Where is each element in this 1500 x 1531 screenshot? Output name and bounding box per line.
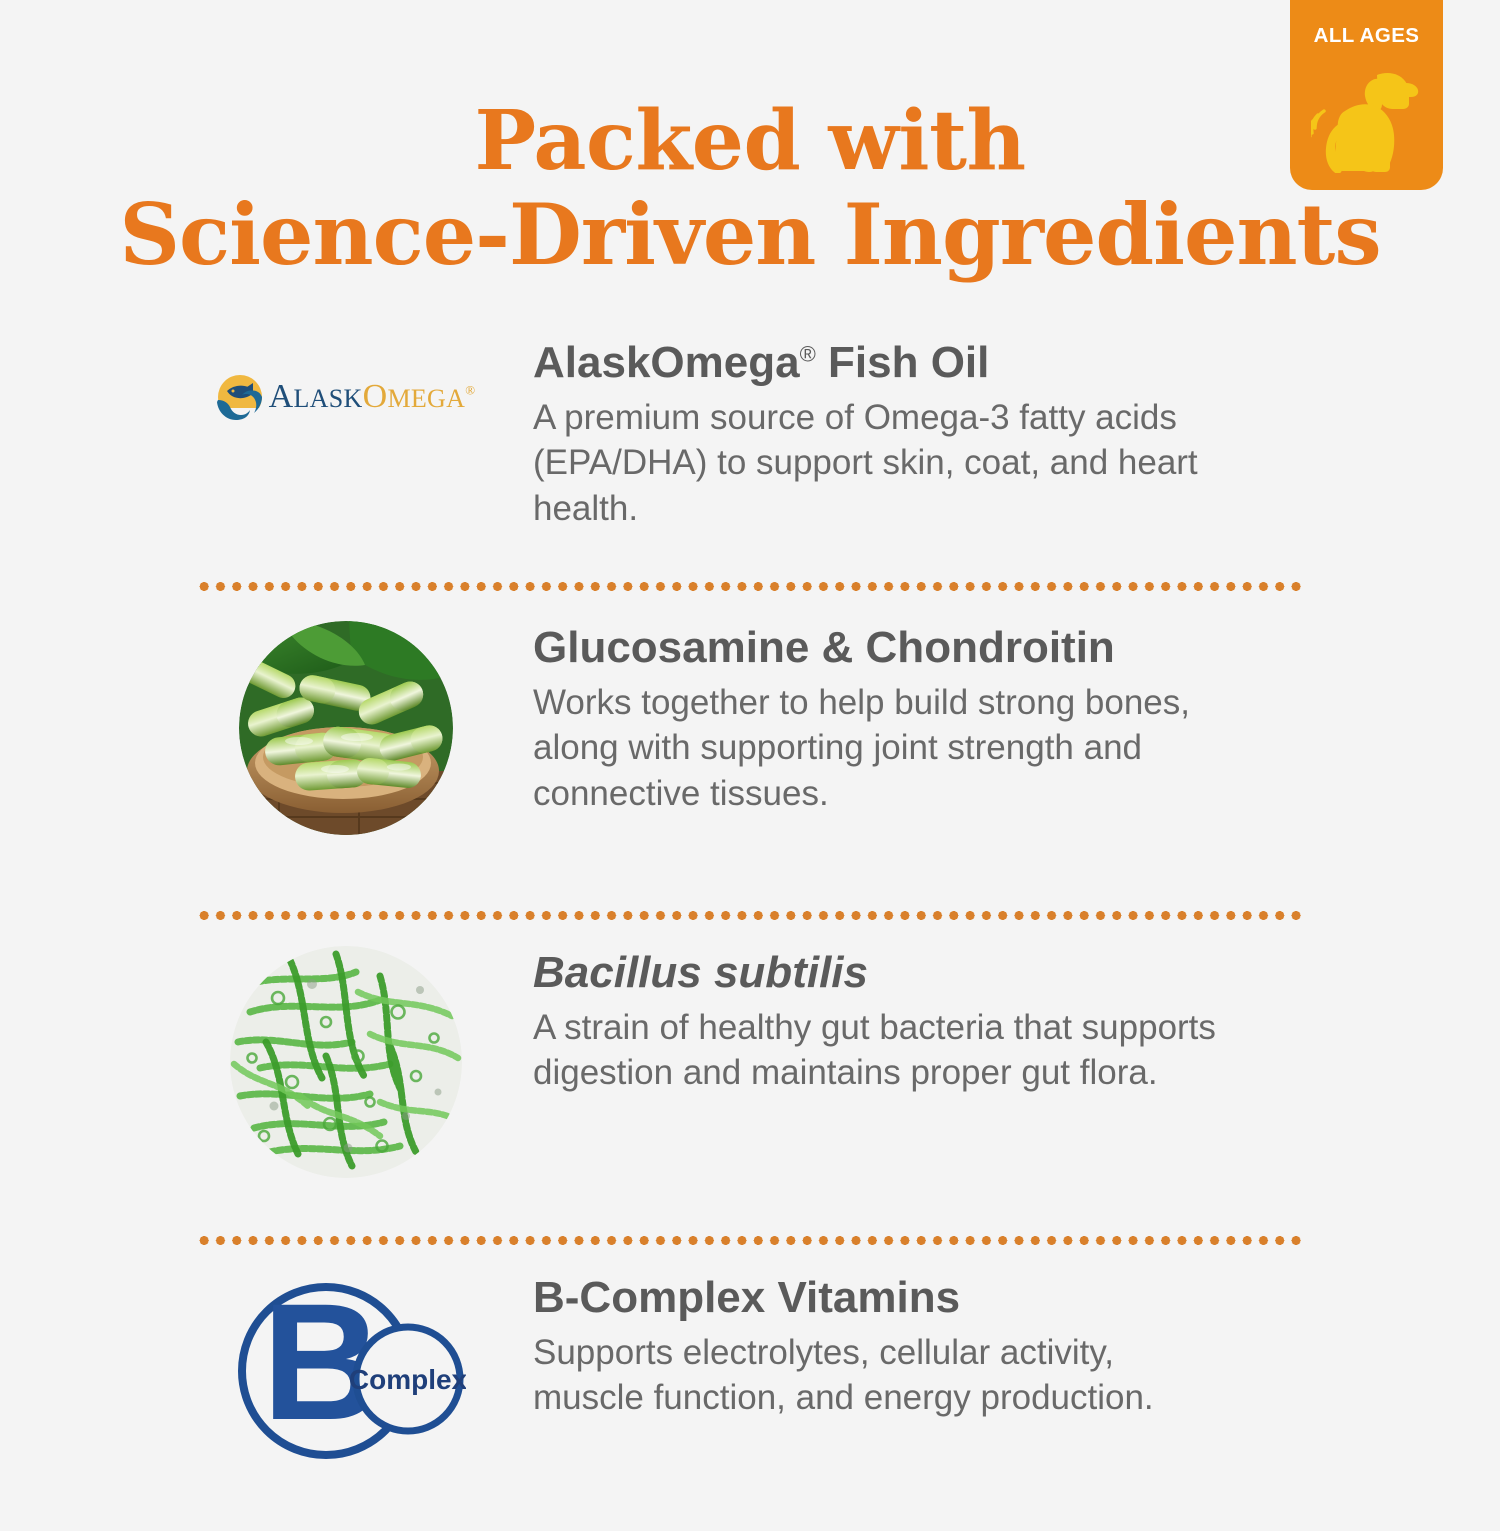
ingredient-title: AlaskOmega® Fish Oil (533, 340, 1500, 387)
ingredient-text: B-Complex Vitamins Supports electrolytes… (496, 1271, 1500, 1421)
ingredient-title: Glucosamine & Chondroitin (533, 625, 1500, 672)
ingredient-row-bacillus: Bacillus subtilis A strain of healthy gu… (0, 946, 1500, 1234)
ingredient-icon: B Complex (196, 1271, 496, 1476)
green-capsules-photo (239, 621, 453, 835)
ingredient-description: A premium source of Omega-3 fatty acids … (533, 395, 1233, 533)
b-complex-badge-text: Complex (349, 1364, 466, 1395)
divider (196, 1236, 1306, 1245)
ingredient-icon: ALASKOMEGA® (196, 336, 496, 420)
ingredient-description: A strain of healthy gut bacteria that su… (533, 1005, 1233, 1097)
registered-mark-icon: ® (800, 341, 816, 366)
alaskomega-wordmark-part1: ALASK (269, 378, 363, 415)
registered-mark-icon: ® (465, 383, 475, 398)
alaskomega-logo: ALASKOMEGA® (217, 374, 476, 420)
ingredient-title-suffix: Fish Oil (816, 338, 990, 387)
ingredient-text: Bacillus subtilis A strain of healthy gu… (496, 946, 1500, 1096)
alaskomega-wordmark-part2: OMEGA (363, 378, 466, 415)
ingredient-row-b-complex: B Complex B-Complex Vitamins Supports el… (0, 1271, 1500, 1531)
ingredient-description: Supports electrolytes, cellular activity… (533, 1330, 1233, 1422)
ingredient-icon (196, 946, 496, 1178)
bacteria-microscopy-photo (230, 946, 462, 1178)
alaskomega-wordmark: ALASKOMEGA® (269, 380, 476, 414)
ingredient-icon (196, 621, 496, 835)
ingredient-row-glucosamine: Glucosamine & Chondroitin Works together… (0, 621, 1500, 909)
ingredient-title: B-Complex Vitamins (533, 1275, 1500, 1322)
divider (196, 911, 1306, 920)
ingredient-description: Works together to help build strong bone… (533, 680, 1233, 818)
ingredient-row-alaskomega: ALASKOMEGA® AlaskOmega® Fish Oil A premi… (0, 336, 1500, 578)
title-line-1: Packed with (0, 96, 1500, 188)
ingredient-title-main: AlaskOmega (533, 338, 800, 387)
title-line-2: Science-Driven Ingredients (0, 188, 1500, 282)
badge-label: ALL AGES (1314, 26, 1420, 47)
page-title: Packed with Science-Driven Ingredients (0, 96, 1500, 282)
divider (196, 582, 1306, 591)
ingredient-list: ALASKOMEGA® AlaskOmega® Fish Oil A premi… (0, 336, 1500, 1531)
ingredient-text: AlaskOmega® Fish Oil A premium source of… (496, 336, 1500, 532)
alaskomega-fish-wave-icon (217, 374, 263, 420)
ingredient-title: Bacillus subtilis (533, 950, 1500, 997)
ingredient-text: Glucosamine & Chondroitin Works together… (496, 621, 1500, 817)
b-complex-logo: B Complex (226, 1271, 466, 1476)
